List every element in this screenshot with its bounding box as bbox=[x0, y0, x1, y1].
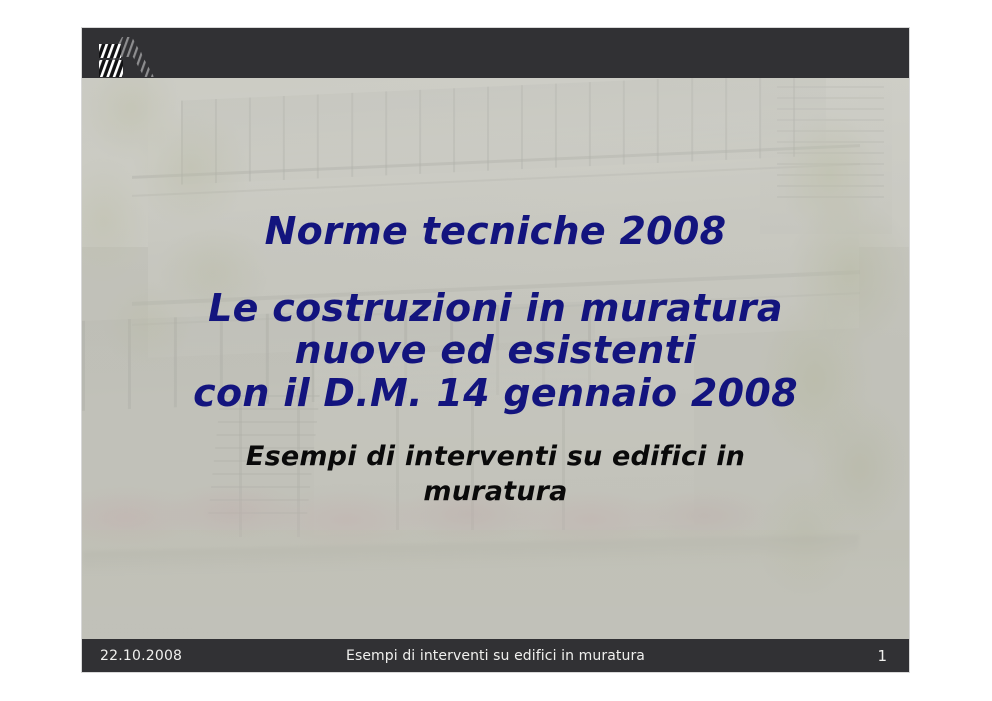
title-line-3: nuove ed esistenti bbox=[295, 329, 697, 372]
footer-page-number: 1 bbox=[877, 647, 887, 665]
footer-title: Esempi di interventi su edifici in murat… bbox=[82, 648, 909, 664]
slide-subtitle: Esempi di interventi su edifici in murat… bbox=[216, 440, 776, 509]
slide-text-block: Norme tecniche 2008 Le costruzioni in mu… bbox=[82, 28, 909, 672]
title-line-1: Norme tecniche 2008 bbox=[265, 210, 727, 253]
title-line-2: Le costruzioni in muratura bbox=[208, 287, 783, 330]
footer-date: 22.10.2008 bbox=[100, 648, 182, 664]
title-line-4: con il D.M. 14 gennaio 2008 bbox=[193, 372, 798, 415]
slide-footer-bar: 22.10.2008 Esempi di interventi su edifi… bbox=[82, 639, 909, 672]
slide: Norme tecniche 2008 Le costruzioni in mu… bbox=[82, 28, 909, 672]
